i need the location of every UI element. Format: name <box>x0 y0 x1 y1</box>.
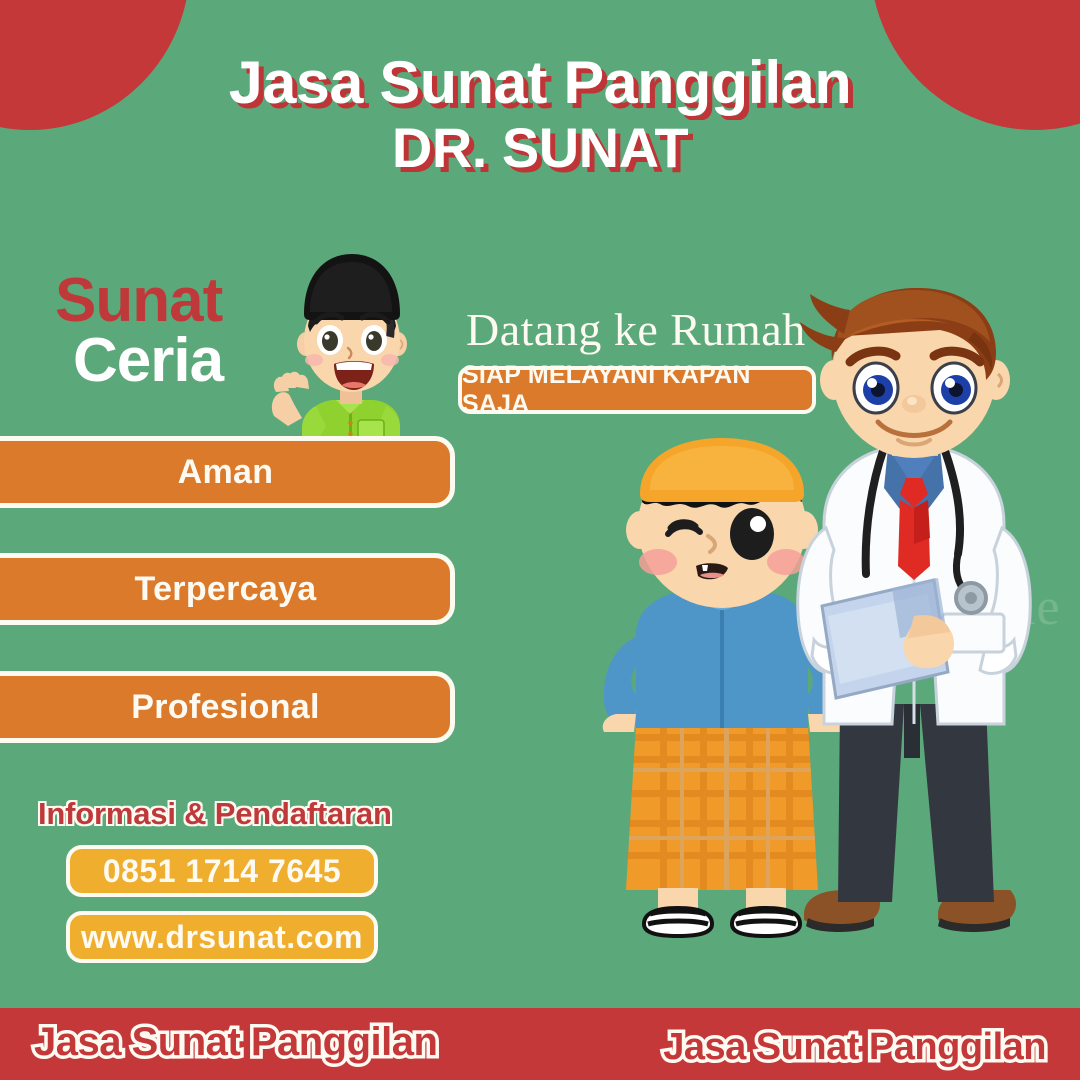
poster-canvas: dreamstime pngtree Jasa Sunat Panggilan … <box>0 0 1080 1080</box>
doctor-illustration <box>788 288 1058 948</box>
header-title-line1: Jasa Sunat Panggilan <box>0 52 1080 113</box>
feature-label: Terpercaya <box>109 570 317 609</box>
website-text: www.drsunat.com <box>81 919 363 956</box>
phone-number-text: 0851 1714 7645 <box>103 853 341 890</box>
feature-pill-terpercaya[interactable]: Terpercaya <box>0 553 455 625</box>
brand-word-ceria: Ceria <box>73 332 223 390</box>
brand-word-sunat: Sunat <box>55 272 223 330</box>
promo-headline: Datang ke Rumah <box>466 303 806 356</box>
songkok-boy-illustration <box>258 240 444 440</box>
feature-label: Profesional <box>105 688 319 727</box>
poster-header: Jasa Sunat Panggilan DR. SUNAT <box>0 52 1080 176</box>
footer-text-right: Jasa Sunat Panggilan <box>663 1026 1046 1069</box>
feature-pill-profesional[interactable]: Profesional <box>0 671 455 743</box>
promo-badge: SIAP MELAYANI KAPAN SAJA <box>458 366 816 414</box>
header-title-line2: DR. SUNAT <box>0 119 1080 176</box>
footer-text-left: Jasa Sunat Panggilan <box>34 1020 437 1065</box>
phone-number-pill[interactable]: 0851 1714 7645 <box>66 845 378 897</box>
contact-heading: Informasi & Pendaftaran <box>38 796 392 832</box>
poster-footer: Jasa Sunat Panggilan Jasa Sunat Panggila… <box>0 1008 1080 1080</box>
feature-label: Aman <box>152 453 274 492</box>
brand-wordmark: Sunat Ceria <box>55 272 223 391</box>
feature-pill-aman[interactable]: Aman <box>0 436 455 508</box>
promo-badge-text: SIAP MELAYANI KAPAN SAJA <box>462 361 812 419</box>
website-pill[interactable]: www.drsunat.com <box>66 911 378 963</box>
